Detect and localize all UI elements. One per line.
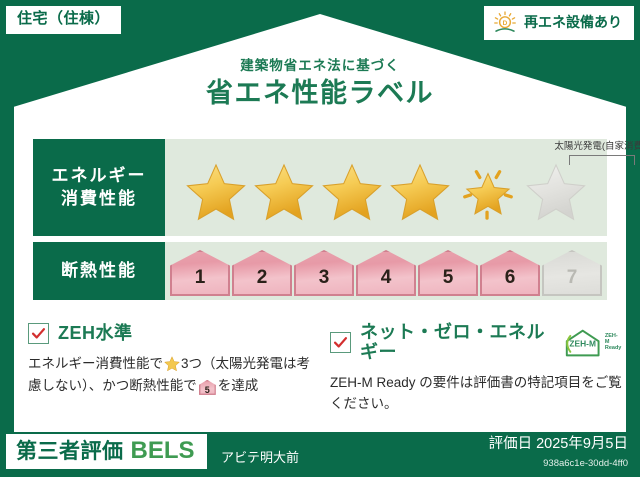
zeh-criteria-block: ZEH水準 エネルギー消費性能で3つ（太陽光発電は考慮しない）、かつ断熱性能で5…	[28, 323, 318, 397]
insulation-label-text: 断熱性能	[61, 260, 137, 283]
star-filled	[321, 162, 383, 222]
zeh-m-logo-sub2: Ready	[605, 346, 622, 352]
star-filled	[185, 162, 247, 222]
zeh-criteria-body: エネルギー消費性能で3つ（太陽光発電は考慮しない）、かつ断熱性能で5を達成	[28, 353, 318, 397]
energy-performance-label: エネルギー 消費性能	[33, 139, 165, 236]
star-rating-group	[165, 139, 607, 236]
insulation-level-value: 5	[443, 268, 454, 296]
net-zero-checkbox[interactable]	[330, 332, 351, 353]
net-zero-criteria-title: ネット・ゼロ・エネルギー	[360, 323, 548, 363]
zeh-m-logo: ZEH-M ZEH-M Ready	[563, 328, 622, 358]
insulation-level-inline-badge: 5	[199, 380, 216, 395]
net-zero-criteria-header: ネット・ゼロ・エネルギー ZEH-M ZEH-M Ready	[330, 323, 622, 363]
insulation-level-badge: 6	[480, 250, 540, 296]
third-party-label: 第三者評価	[16, 441, 124, 462]
net-zero-criteria-body: ZEH-M Ready の要件は評価書の特記項目をご覧ください。	[330, 372, 622, 416]
energy-label-root: 住宅（住棟） D 再エネ設備あり 建築物省エネ法に基づく	[0, 0, 640, 477]
bels-certification-badge: 第三者評価 BELS	[6, 434, 207, 469]
renewable-equipment-badge: D 再エネ設備あり	[484, 6, 634, 40]
star-empty	[525, 162, 587, 222]
energy-label-line1: エネルギー	[52, 165, 147, 188]
insulation-rating-panel: 1 2 3 4 5 6 7	[165, 242, 607, 300]
bels-logo-text: BELS	[131, 439, 195, 463]
check-icon	[333, 335, 348, 350]
energy-performance-row: エネルギー 消費性能 太陽光発電(自家消費)分	[33, 139, 607, 236]
insulation-level-badge-inactive: 7	[542, 250, 602, 296]
insulation-level-value: 7	[567, 268, 578, 296]
zeh-criteria-header: ZEH水準	[28, 323, 318, 344]
zeh-criteria-title: ZEH水準	[58, 324, 133, 344]
renewable-badge-label: 再エネ設備あり	[524, 15, 622, 30]
title-subtitle: 建築物省エネ法に基づく	[0, 58, 640, 74]
energy-rating-panel: 太陽光発電(自家消費)分	[165, 139, 607, 236]
zeh-checkbox[interactable]	[28, 323, 49, 344]
insulation-level-value: 1	[195, 268, 206, 296]
zeh-body-part1: エネルギー消費性能で	[28, 356, 163, 371]
svg-text:ZEH-M: ZEH-M	[570, 338, 597, 348]
insulation-level-badge: 2	[232, 250, 292, 296]
check-icon	[31, 326, 46, 341]
label-title-block: 建築物省エネ法に基づく 省エネ性能ラベル	[0, 58, 640, 111]
insulation-level-group: 1 2 3 4 5 6 7	[165, 242, 607, 300]
star-filled	[389, 162, 451, 222]
building-type-label: 住宅（住棟）	[17, 10, 110, 27]
net-zero-criteria-block: ネット・ゼロ・エネルギー ZEH-M ZEH-M Ready ZEH-M Rea…	[330, 323, 622, 415]
svg-text:D: D	[503, 20, 508, 27]
title-main: 省エネ性能ラベル	[0, 77, 640, 111]
insulation-level-value: 4	[381, 268, 392, 296]
insulation-performance-row: 断熱性能 1 2 3 4 5 6 7	[33, 242, 607, 300]
insulation-level-value: 2	[257, 268, 268, 296]
document-id: 938a6c1e-30dd-4ff0	[543, 459, 628, 469]
star-filled	[253, 162, 315, 222]
star-icon	[164, 356, 180, 372]
zeh-m-house-icon: ZEH-M	[563, 328, 602, 358]
insulation-level-value: 3	[319, 268, 330, 296]
insulation-level-value: 6	[505, 268, 516, 296]
energy-label-line2: 消費性能	[61, 188, 137, 211]
zeh-body-part3: を達成	[218, 378, 259, 393]
zeh-m-logo-sub1: ZEH-M	[605, 334, 622, 346]
insulation-level-badge: 3	[294, 250, 354, 296]
building-name: アビテ明大前	[221, 451, 299, 464]
evaluation-date: 評価日 2025年9月5日	[489, 437, 628, 452]
building-type-badge: 住宅（住棟）	[6, 6, 121, 34]
solar-sun-icon: D	[492, 10, 518, 36]
insulation-level-badge: 5	[418, 250, 478, 296]
insulation-performance-label: 断熱性能	[33, 242, 165, 300]
insulation-level-badge: 4	[356, 250, 416, 296]
star-filled-solar	[457, 162, 519, 222]
insulation-level-badge: 1	[170, 250, 230, 296]
